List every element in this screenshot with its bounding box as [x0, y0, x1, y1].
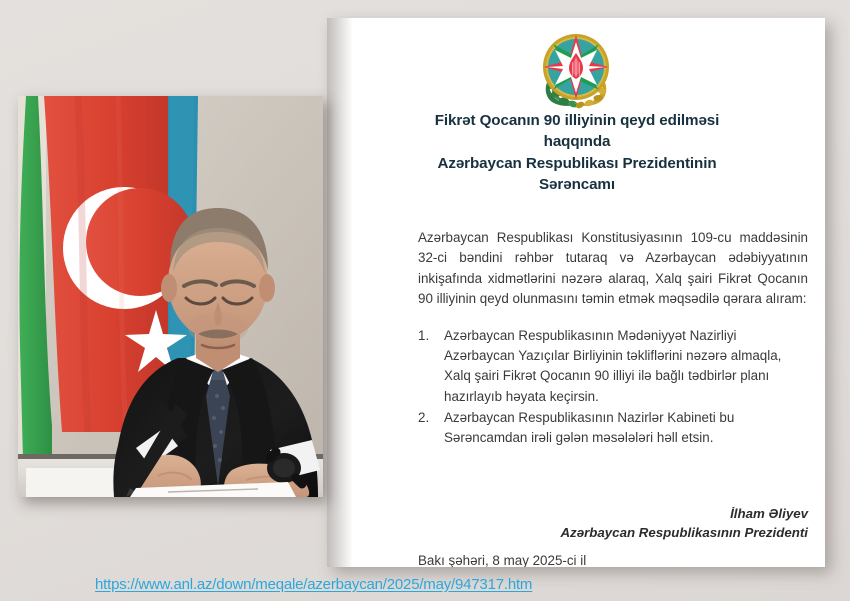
president-signing-photo	[18, 96, 323, 497]
list-item: 1. Azərbaycan Respublikasının Mədəniyyət…	[418, 326, 808, 408]
decree-document-panel: Fikrət Qocanın 90 illiyinin qeyd edilməs…	[327, 18, 825, 567]
document-date-line: Bakı şəhəri, 8 may 2025-ci il	[418, 553, 808, 567]
heading-line-4: Sərəncamı	[357, 174, 797, 195]
clause-text: Azərbaycan Respublikasının Nazirlər Kabi…	[444, 410, 734, 445]
photo-artwork	[18, 96, 323, 497]
emblem-container	[327, 28, 825, 110]
signatory-name: İlham Əliyev	[418, 505, 808, 524]
source-url-link[interactable]: https://www.anl.az/down/meqale/azerbayca…	[95, 576, 532, 593]
azerbaijan-state-emblem-icon	[536, 28, 616, 110]
decree-clause-list: 1. Azərbaycan Respublikasının Mədəniyyət…	[418, 326, 808, 449]
clause-number: 2.	[418, 408, 438, 428]
clause-number: 1.	[418, 326, 438, 346]
heading-line-3: Azərbaycan Respublikası Prezidentinin	[357, 153, 797, 174]
heading-line-2: haqqında	[357, 131, 797, 152]
signatory-title: Azərbaycan Respublikasının Prezidenti	[418, 524, 808, 543]
document-body: Azərbaycan Respublikası Konstitusiyasını…	[418, 228, 808, 450]
list-item: 2. Azərbaycan Respublikasının Nazirlər K…	[418, 408, 808, 449]
heading-line-1: Fikrət Qocanın 90 illiyinin qeyd edilməs…	[357, 110, 797, 131]
slide-canvas: Fikrət Qocanın 90 illiyinin qeyd edilməs…	[0, 0, 850, 601]
signature-block: İlham Əliyev Azərbaycan Respublikasının …	[418, 505, 808, 543]
clause-text: Azərbaycan Respublikasının Mədəniyyət Na…	[444, 328, 781, 404]
intro-paragraph: Azərbaycan Respublikası Konstitusiyasını…	[418, 228, 808, 310]
document-heading: Fikrət Qocanın 90 illiyinin qeyd edilməs…	[357, 110, 797, 195]
